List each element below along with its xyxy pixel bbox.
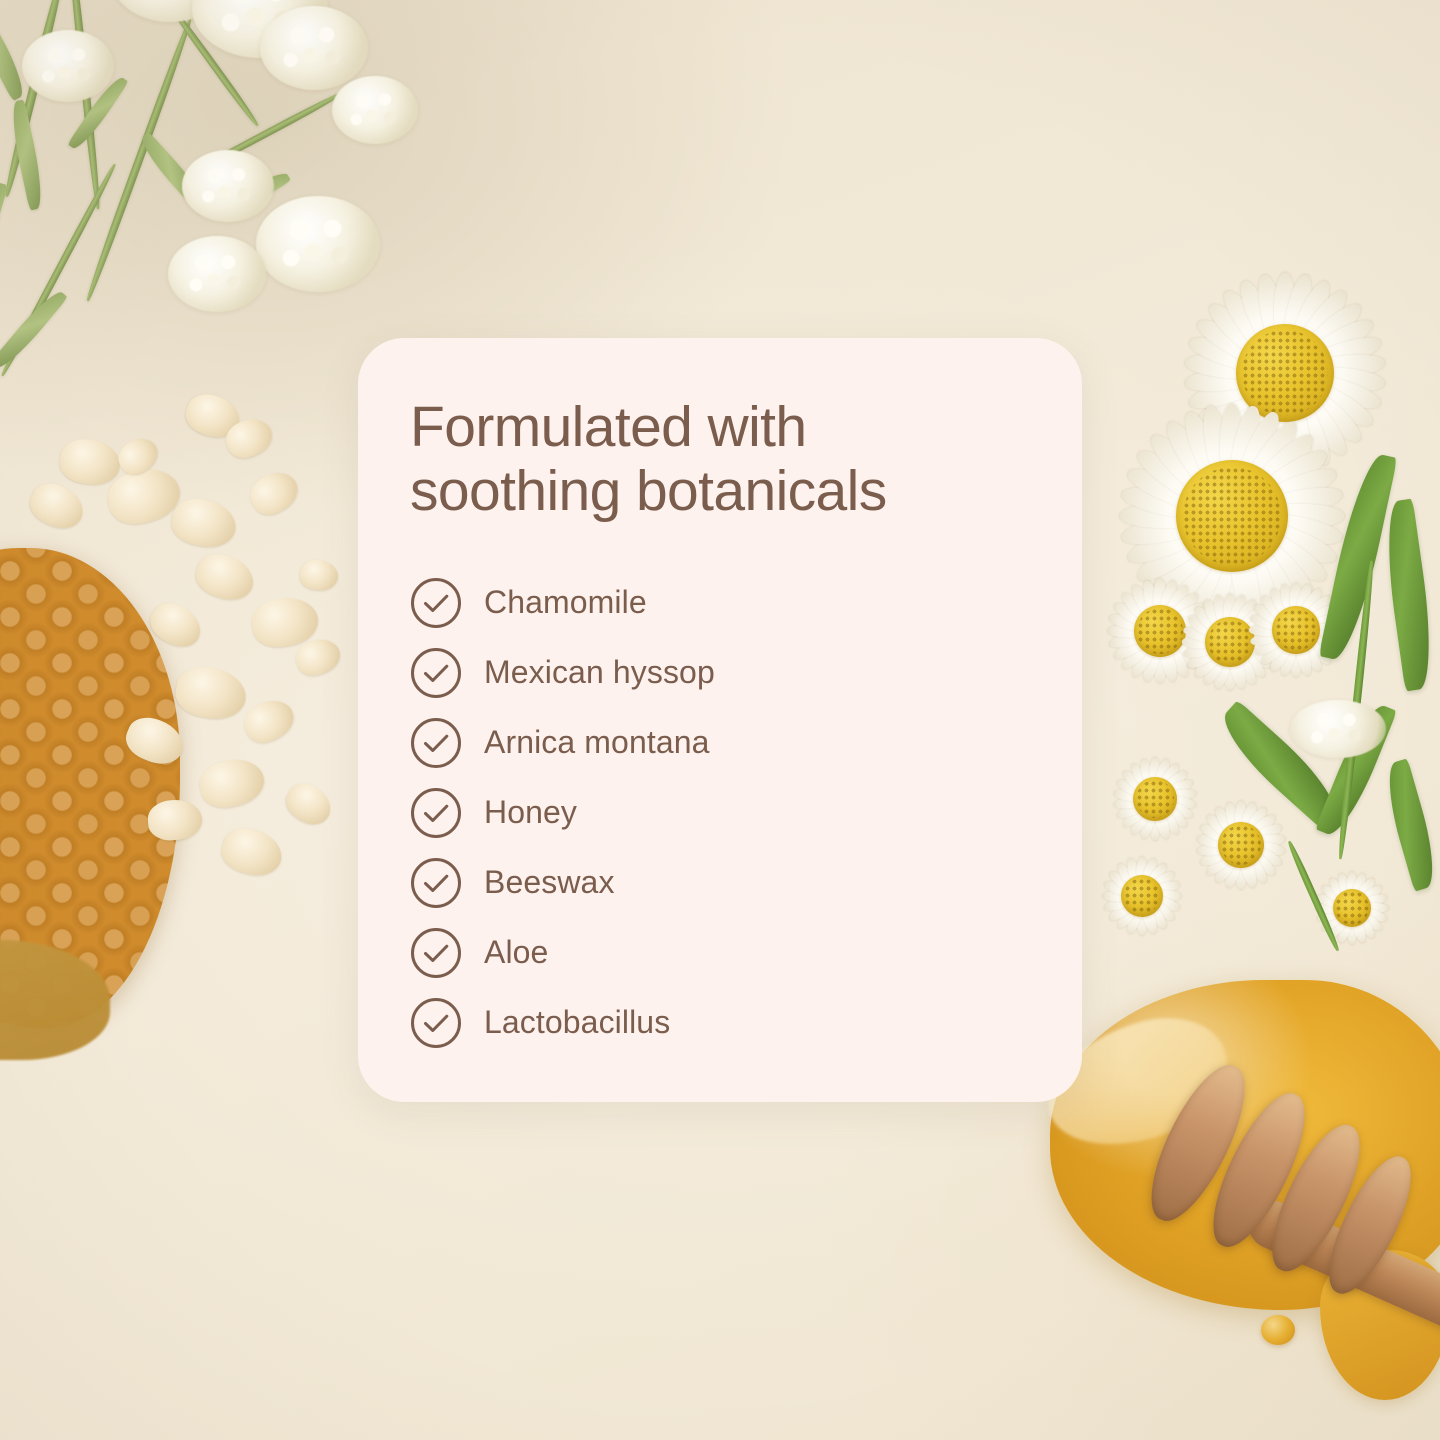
list-item: Beeswax [410, 848, 1030, 918]
list-item: Arnica montana [410, 708, 1030, 778]
ingredient-label: Honey [484, 794, 577, 831]
check-circle-icon [410, 997, 462, 1049]
check-circle-icon [410, 857, 462, 909]
check-circle-icon [410, 787, 462, 839]
check-circle-icon [410, 577, 462, 629]
ingredient-label: Lactobacillus [484, 1004, 670, 1041]
ingredient-list: ChamomileMexican hyssopArnica montanaHon… [410, 568, 1030, 1058]
list-item: Aloe [410, 918, 1030, 988]
ingredient-label: Arnica montana [484, 724, 710, 761]
check-circle-icon [410, 927, 462, 979]
check-circle-icon [410, 647, 462, 699]
ingredient-label: Beeswax [484, 864, 615, 901]
ingredient-label: Mexican hyssop [484, 654, 715, 691]
list-item: Lactobacillus [410, 988, 1030, 1058]
list-item: Chamomile [410, 568, 1030, 638]
ingredient-label: Chamomile [484, 584, 647, 621]
ingredients-card: Formulated with soothing botanicals Cham… [358, 338, 1082, 1102]
list-item: Mexican hyssop [410, 638, 1030, 708]
check-circle-icon [410, 717, 462, 769]
list-item: Honey [410, 778, 1030, 848]
ingredient-label: Aloe [484, 934, 548, 971]
page-title: Formulated with soothing botanicals [410, 396, 1030, 524]
